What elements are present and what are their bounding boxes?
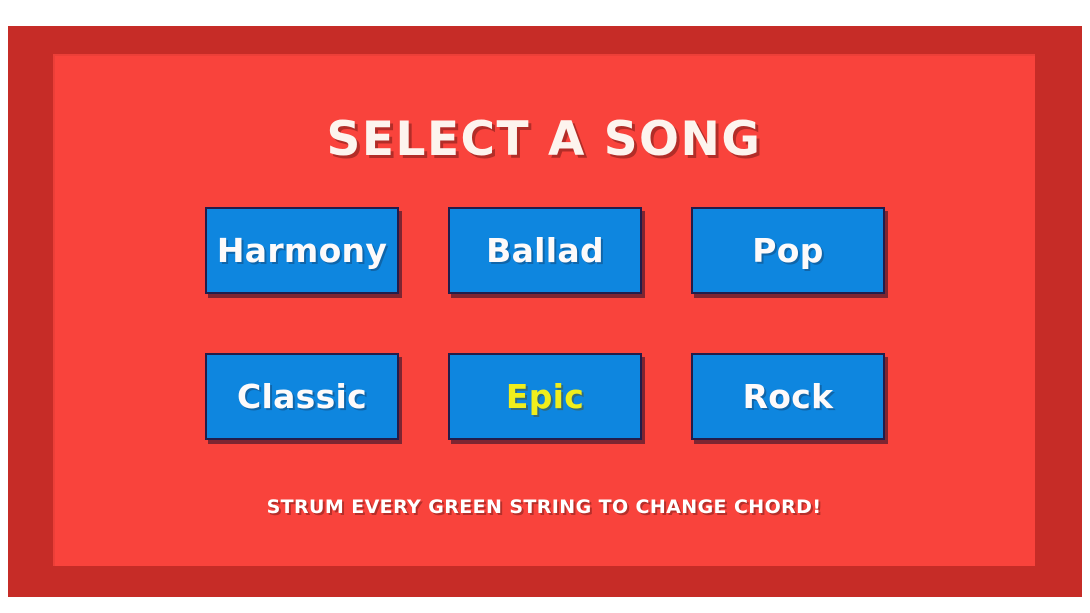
song-button-label: Classic [237, 380, 367, 413]
song-button-label: Harmony [217, 234, 387, 267]
song-button-label: Ballad [486, 234, 604, 267]
song-button-grid: Harmony Ballad Pop Classic Epic Rock [205, 207, 885, 440]
song-button-pop[interactable]: Pop [691, 207, 885, 294]
song-button-ballad[interactable]: Ballad [448, 207, 642, 294]
song-select-panel: SELECT A SONG Harmony Ballad Pop Classic… [53, 54, 1035, 566]
song-button-classic[interactable]: Classic [205, 353, 399, 440]
song-button-epic[interactable]: Epic [448, 353, 642, 440]
instruction-text: STRUM EVERY GREEN STRING TO CHANGE CHORD… [53, 496, 1035, 518]
song-button-harmony[interactable]: Harmony [205, 207, 399, 294]
game-frame: SELECT A SONG Harmony Ballad Pop Classic… [8, 26, 1082, 597]
song-button-rock[interactable]: Rock [691, 353, 885, 440]
song-button-label: Epic [506, 380, 584, 413]
song-button-label: Rock [743, 380, 834, 413]
song-button-label: Pop [752, 234, 823, 267]
page-title: SELECT A SONG [53, 112, 1035, 167]
